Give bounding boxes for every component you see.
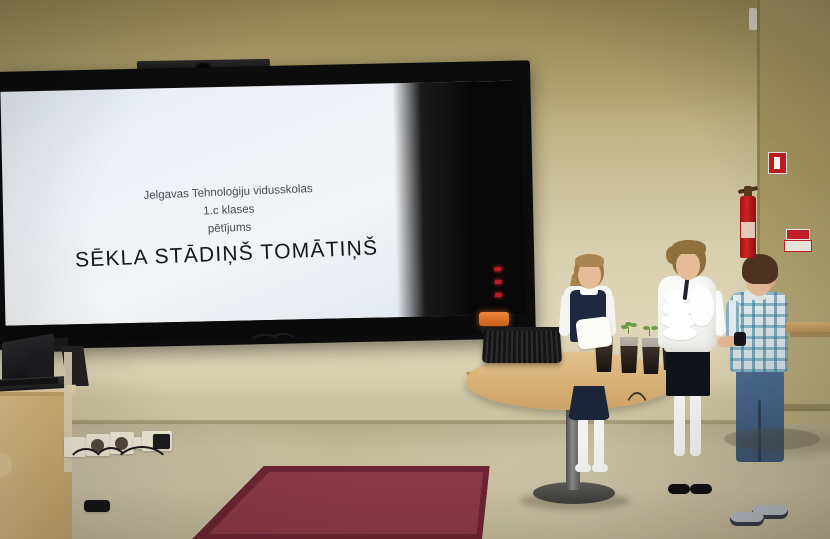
white-info-plate xyxy=(784,240,812,252)
status-led-2 xyxy=(495,280,502,284)
wooden-wall-bench xyxy=(786,322,830,332)
blouse-ruffle-4 xyxy=(663,326,697,340)
orange-object-on-ledge xyxy=(479,312,509,326)
plug-black xyxy=(153,434,170,449)
boy-shoe-left xyxy=(730,512,764,526)
girl-left-paper-sheet xyxy=(575,316,612,350)
boy-wristwatch xyxy=(734,332,746,346)
girl-left-fringe xyxy=(575,254,604,267)
black-plastic-basket xyxy=(482,331,562,363)
blouse-sleeve xyxy=(690,286,714,326)
red-wall-plate xyxy=(786,229,810,240)
desk-edge xyxy=(0,392,72,396)
fire-equipment-sign xyxy=(768,152,787,174)
classroom-scene: Jelgavas Tehnoloģiju vidusskolas 1.c kla… xyxy=(0,0,830,539)
girl-middle-shoe-right xyxy=(690,484,712,494)
presentation-slide: Jelgavas Tehnoloģiju vidusskolas 1.c kla… xyxy=(7,99,408,349)
girl-middle-leg-right xyxy=(690,394,701,456)
tv-screen: Jelgavas Tehnoloģiju vidusskolas 1.c kla… xyxy=(0,81,517,326)
status-led-1 xyxy=(494,267,501,271)
girl-left-leg-right xyxy=(594,418,604,468)
slide-title: SĒKLA STĀDIŅŠ TOMĀTIŅŠ xyxy=(30,235,423,275)
power-cable-3 xyxy=(112,446,172,496)
girl-left-shoe-right xyxy=(592,464,608,472)
girl-middle-shoe-left xyxy=(668,484,690,494)
girl-middle-leg-left xyxy=(674,394,685,456)
ceiling-corner-sensor xyxy=(749,8,757,30)
boy-hair xyxy=(742,254,778,284)
tv-cable-2 xyxy=(268,333,298,351)
flat-screen-tv[interactable]: Jelgavas Tehnoloģiju vidusskolas 1.c kla… xyxy=(0,60,536,350)
wall-bench-support xyxy=(790,332,830,337)
fire-sign-glyph xyxy=(774,157,780,169)
girl-left-leg-left xyxy=(578,418,588,468)
girl-middle-face xyxy=(676,252,700,280)
status-led-3 xyxy=(495,293,502,297)
girl-left-skirt xyxy=(568,386,610,420)
tv-status-leds xyxy=(494,267,507,313)
seedling-leaves-2 xyxy=(619,322,639,338)
girl-left-shoe-left xyxy=(575,464,591,472)
girl-middle-fringe xyxy=(672,240,706,254)
girl-middle-skirt xyxy=(666,350,710,396)
extinguisher-label xyxy=(741,222,755,238)
floor-power-strip xyxy=(84,500,110,512)
table-floor-cable xyxy=(620,392,654,486)
